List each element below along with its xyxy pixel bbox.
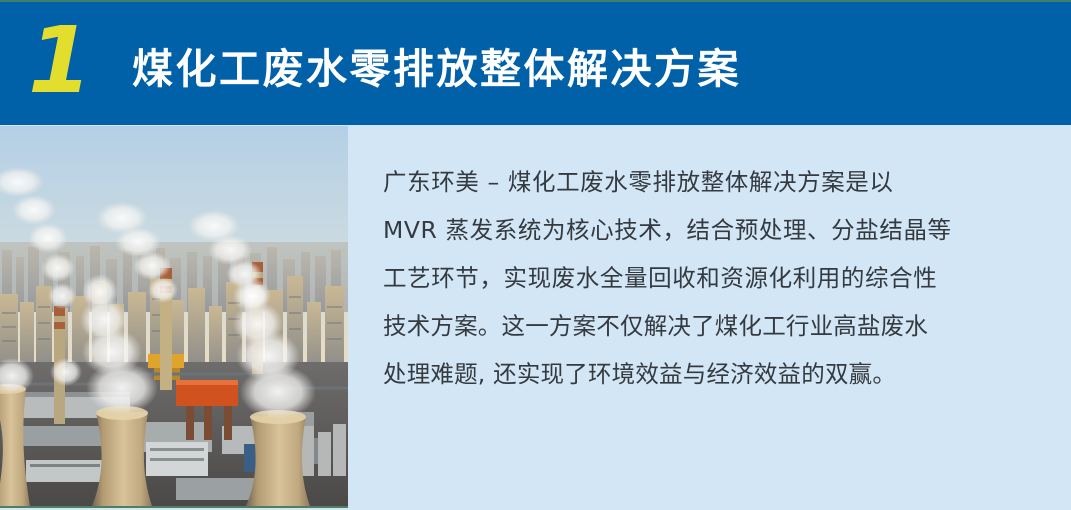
description-line: 技术方案。这一方案不仅解决了煤化工行业高盐废水 — [383, 302, 995, 350]
section-number: 1 — [28, 15, 90, 107]
industrial-plant-illustration — [0, 126, 348, 506]
description-line: MVR 蒸发系统为核心技术，结合预处理、分盐结晶等 — [383, 206, 995, 254]
slide-page: 1 煤化工废水零排放整体解决方案 — [0, 0, 1071, 510]
industrial-plant-photo — [0, 126, 348, 508]
description-paragraph: 广东环美 – 煤化工废水零排放整体解决方案是以 MVR 蒸发系统为核心技术，结合… — [383, 158, 995, 398]
section-header-bar: 1 煤化工废水零排放整体解决方案 — [0, 0, 1071, 125]
page-title: 煤化工废水零排放整体解决方案 — [132, 35, 741, 95]
description-line: 工艺环节，实现废水全量回收和资源化利用的综合性 — [383, 254, 995, 302]
description-line: 处理难题, 还实现了环境效益与经济效益的双赢。 — [383, 350, 995, 398]
description-line: 广东环美 – 煤化工废水零排放整体解决方案是以 — [383, 158, 995, 206]
